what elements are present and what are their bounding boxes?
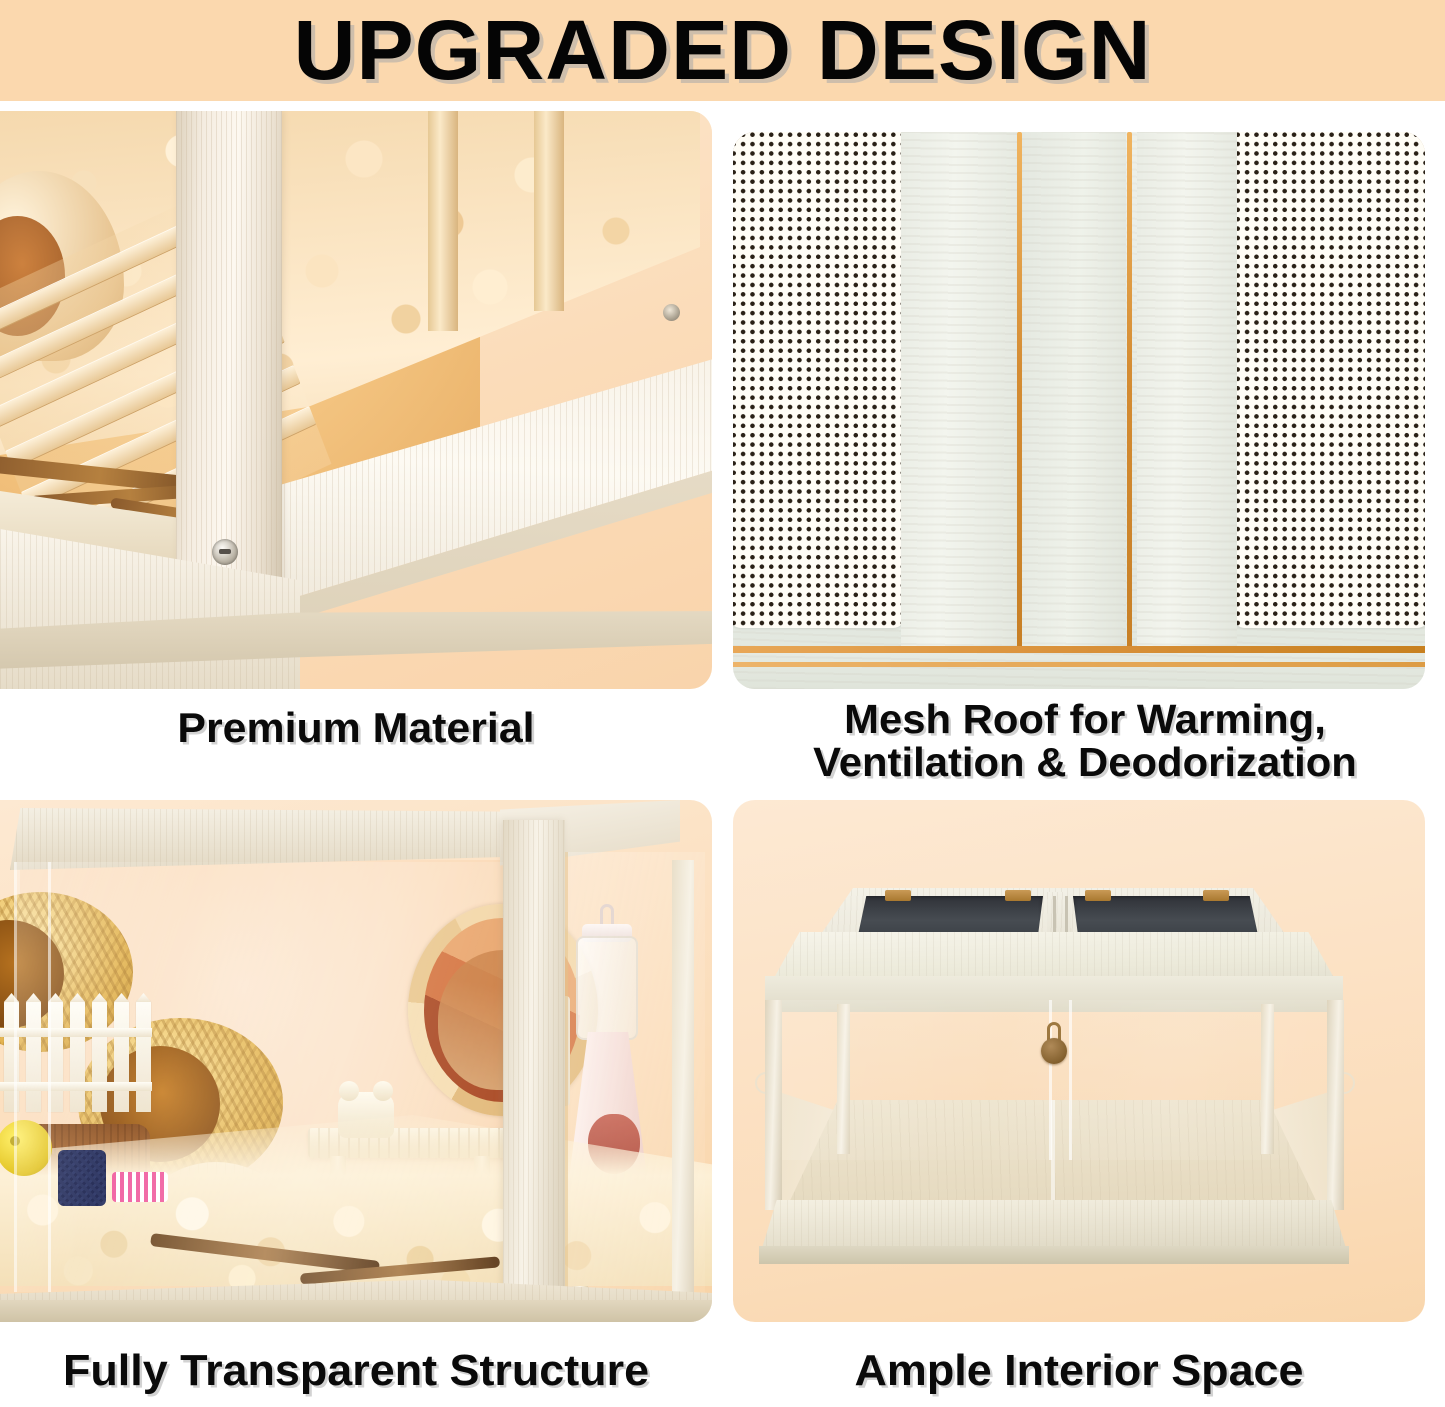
hinge <box>885 890 911 901</box>
wood-frame-strip <box>901 132 1017 689</box>
photo-ample-interior-space <box>733 800 1425 1322</box>
door-pull-knob <box>1041 1038 1067 1064</box>
page-title: UPGRADED DESIGN <box>294 11 1152 91</box>
panel-mesh-roof <box>733 132 1425 689</box>
orange-edge-band-bottom <box>733 646 1425 653</box>
photo-mesh-roof <box>733 132 1425 689</box>
bottom-wood-rail <box>733 653 1425 689</box>
mesh-screen-left <box>733 132 905 628</box>
photo-transparent-structure <box>0 800 712 1322</box>
screw-fastener <box>212 539 238 565</box>
hinge <box>1203 890 1229 901</box>
orange-edge-band <box>1017 132 1022 689</box>
orange-edge-band <box>1127 132 1132 689</box>
base-trim-edge <box>759 1246 1349 1264</box>
panel-fully-transparent-structure <box>0 800 712 1322</box>
corner-wood-post <box>503 820 565 1320</box>
mesh-weave-overlay <box>1233 132 1425 628</box>
sliding-door-edge <box>1069 1000 1072 1160</box>
caption-fully-transparent-structure: Fully Transparent Structure <box>0 1348 719 1394</box>
hinge <box>1005 890 1031 901</box>
photo-premium-material <box>0 111 712 689</box>
cage-base-edge <box>0 1300 712 1322</box>
hinge <box>1085 890 1111 901</box>
header-banner: UPGRADED DESIGN <box>0 0 1445 101</box>
panel-premium-material <box>0 111 712 689</box>
acrylic-front-panel <box>14 862 506 1292</box>
interior-wood-post <box>534 111 564 311</box>
caption-mesh-roof: Mesh Roof for Warming, Ventilation & Deo… <box>718 698 1445 784</box>
mesh-weave-overlay <box>733 132 905 628</box>
corner-post-right <box>1327 1000 1344 1210</box>
interior-wood-post <box>428 111 458 331</box>
panel-ample-interior-space <box>733 800 1425 1322</box>
caption-ample-interior-space: Ample Interior Space <box>726 1348 1432 1394</box>
acrylic-panel-edge <box>48 862 51 1292</box>
mesh-screen-right <box>1233 132 1425 628</box>
orange-edge-band-bottom <box>733 662 1425 667</box>
center-wood-divider <box>1022 132 1126 689</box>
side-wood-post <box>672 860 694 1322</box>
wood-frame-strip <box>1137 132 1237 689</box>
caption-premium-material: Premium Material <box>0 706 719 750</box>
corner-post-left <box>765 1000 782 1210</box>
screw-fastener <box>663 304 680 321</box>
